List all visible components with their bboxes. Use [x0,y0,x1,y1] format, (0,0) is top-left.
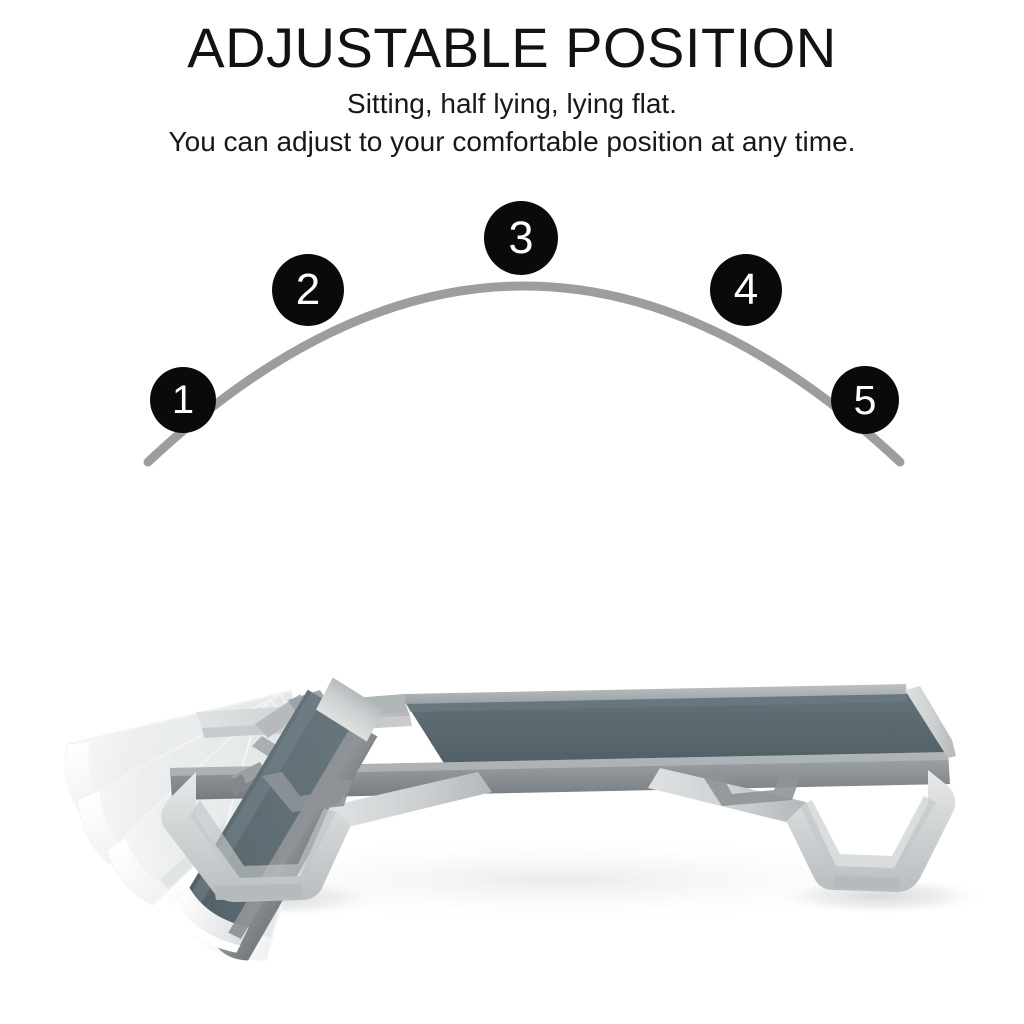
position-badge-4[interactable]: 4 [710,254,782,326]
rear-leg-foot [834,876,900,890]
infographic-canvas: ADJUSTABLE POSITION Sitting, half lying,… [0,0,1024,1024]
front-leg-foot [214,884,302,900]
product-illustration [0,0,1024,1024]
position-badge-label: 5 [854,377,877,424]
position-badge-label: 4 [734,265,758,315]
position-badge-label: 1 [172,378,194,423]
position-badge-2[interactable]: 2 [272,254,344,326]
position-badge-3[interactable]: 3 [484,201,558,275]
position-badge-5[interactable]: 5 [831,366,899,434]
position-badge-1[interactable]: 1 [150,367,216,433]
position-badge-label: 3 [508,212,533,264]
position-badge-label: 2 [296,265,320,315]
